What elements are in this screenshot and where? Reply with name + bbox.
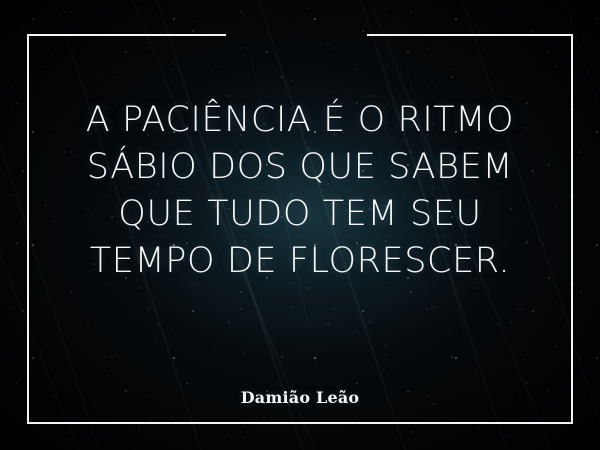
quote-text: A PACIÊNCIA É O RITMO SÁBIO DOS QUE SABE… <box>50 97 550 285</box>
quote-line-4: TEMPO DE FLORESCER. <box>50 238 550 285</box>
quote-line-2: SÁBIO DOS QUE SABEM <box>50 144 550 191</box>
author-name: Damião Leão <box>0 388 600 407</box>
quote-line-1: A PACIÊNCIA É O RITMO <box>50 97 550 144</box>
quote-poster: A PACIÊNCIA É O RITMO SÁBIO DOS QUE SABE… <box>0 0 600 450</box>
quote-line-3: QUE TUDO TEM SEU <box>50 191 550 238</box>
